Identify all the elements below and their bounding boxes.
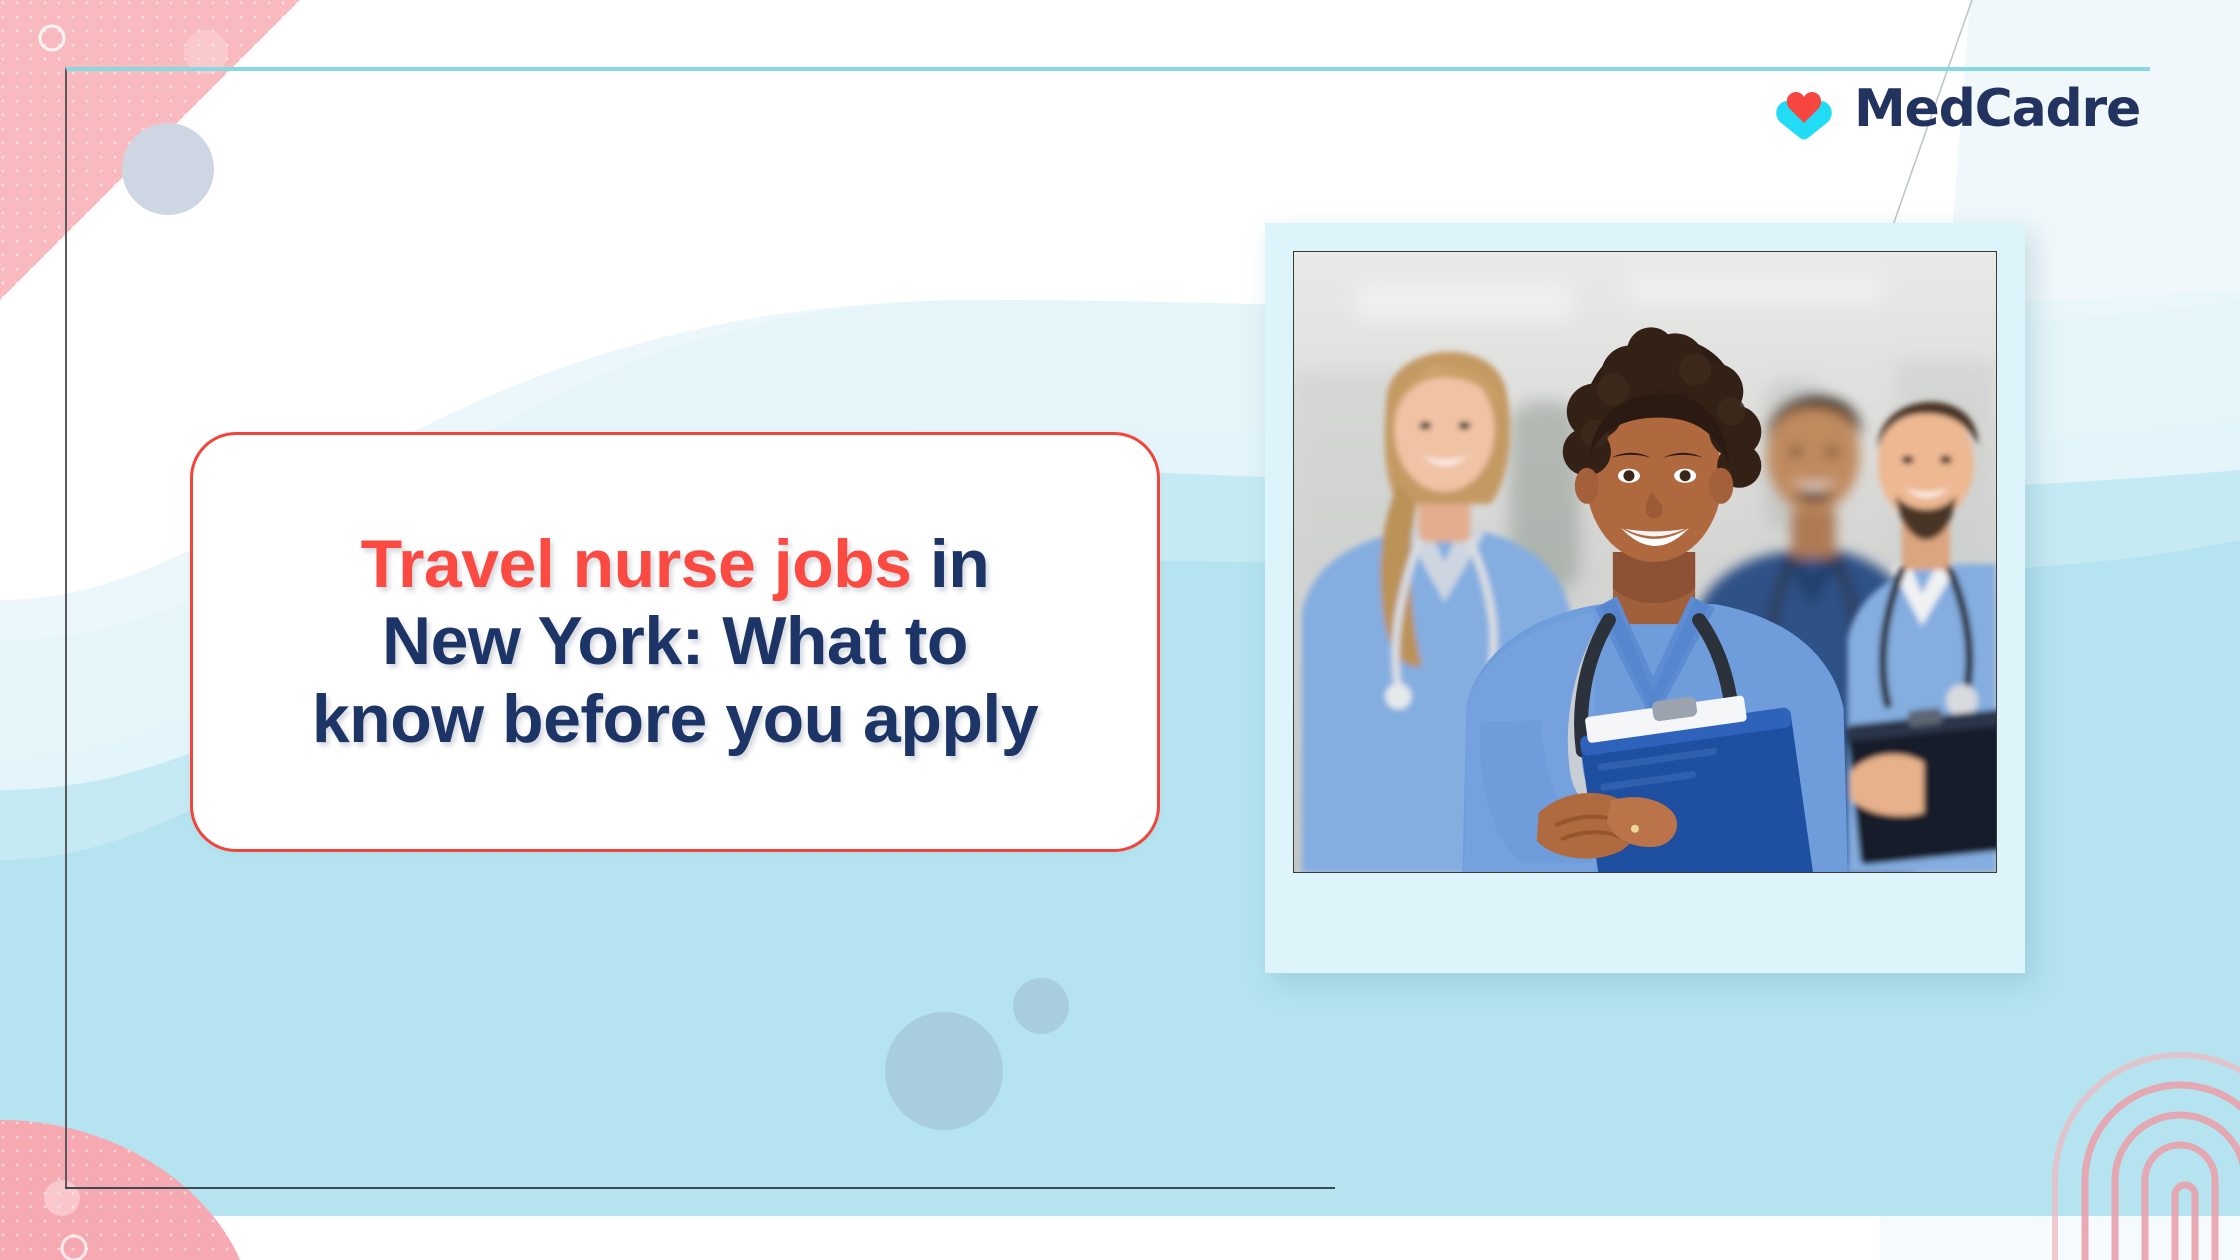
heart-in-hands-icon [1772, 78, 1836, 140]
page-title: Travel nurse jobs in New York: What to k… [282, 526, 1068, 759]
title-line1-rest: in [912, 526, 990, 602]
decor-circle-top-left [122, 123, 214, 215]
poster-canvas: MedCadre Travel nurse jobs in New York: … [0, 0, 2240, 1260]
decor-circle-small-bottom [1013, 978, 1069, 1034]
frame-bottom-rule [65, 1187, 1335, 1189]
hero-photo [1293, 251, 1997, 873]
photo-frame [1265, 223, 2025, 973]
title-card: Travel nurse jobs in New York: What to k… [190, 432, 1160, 852]
title-accent-text: Travel nurse jobs [361, 526, 912, 602]
title-line2: New York: What to [382, 603, 968, 679]
brand-wordmark: MedCadre [1854, 83, 2140, 135]
brand-logo[interactable]: MedCadre [1772, 78, 2140, 140]
decor-circle-large-bottom [885, 1012, 1003, 1130]
hero-photo-illustration [1294, 252, 1996, 872]
title-line3: know before you apply [312, 681, 1038, 757]
frame-top-rule [65, 67, 2150, 71]
